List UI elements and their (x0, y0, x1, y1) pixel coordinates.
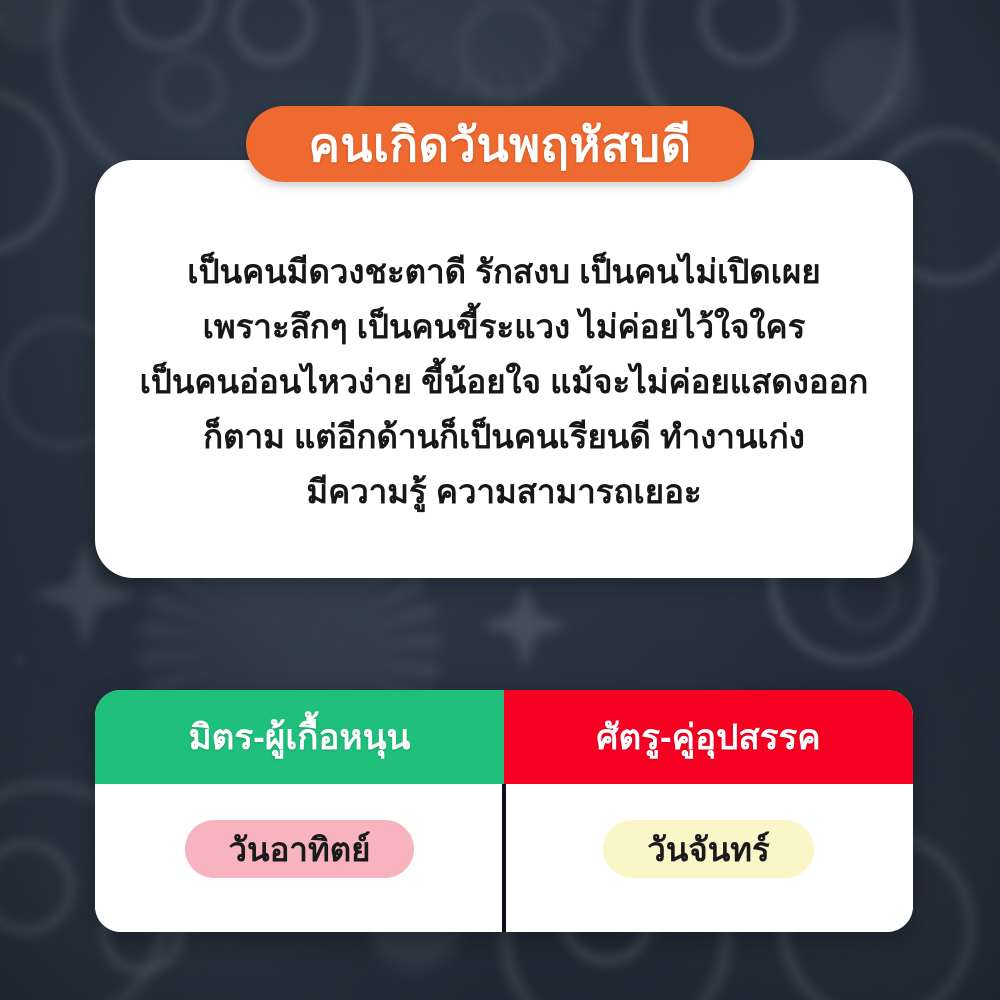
description-text: เป็นคนมีดวงชะตาดี รักสงบ เป็นคนไม่เปิดเผ… (124, 244, 884, 519)
relations-panel-group: มิตร-ผู้เกื้อหนุน วันอาทิตย์ ศัตรู-คู่อุ… (95, 690, 913, 932)
friend-panel-title: มิตร-ผู้เกื้อหนุน (189, 720, 411, 755)
friend-panel-header: มิตร-ผู้เกื้อหนุน (95, 690, 504, 784)
description-line-4: ก็ตาม แต่อีกด้านก็เป็นคนเรียนดี ทำงานเก่… (124, 409, 884, 464)
description-line-3: เป็นคนอ่อนไหวง่าย ขี้น้อยใจ แม้จะไม่ค่อย… (124, 354, 884, 409)
panel-divider (502, 784, 506, 932)
enemy-panel: ศัตรู-คู่อุปสรรค วันจันทร์ (504, 690, 913, 932)
description-line-5: มีความรู้ ความสามารถเยอะ (124, 464, 884, 519)
description-card: เป็นคนมีดวงชะตาดี รักสงบ เป็นคนไม่เปิดเผ… (95, 160, 913, 578)
enemy-day-badge: วันจันทร์ (603, 820, 813, 878)
enemy-panel-header: ศัตรู-คู่อุปสรรค (504, 690, 913, 784)
enemy-panel-title: ศัตรู-คู่อุปสรรค (596, 720, 820, 755)
enemy-panel-body: วันจันทร์ (504, 784, 913, 932)
friend-panel-body: วันอาทิตย์ (95, 784, 504, 932)
friend-day-badge: วันอาทิตย์ (185, 820, 415, 878)
page-title-badge: คนเกิดวันพฤหัสบดี (246, 106, 754, 182)
poster-canvas: คนเกิดวันพฤหัสบดี เป็นคนมีดวงชะตาดี รักส… (0, 0, 1000, 1000)
description-line-2: เพราะลึกๆ เป็นคนขี้ระแวง ไม่ค่อยไว้ใจใคร (124, 299, 884, 354)
page-title: คนเกิดวันพฤหัสบดี (308, 121, 691, 168)
friend-panel: มิตร-ผู้เกื้อหนุน วันอาทิตย์ (95, 690, 504, 932)
description-line-1: เป็นคนมีดวงชะตาดี รักสงบ เป็นคนไม่เปิดเผ… (124, 244, 884, 299)
